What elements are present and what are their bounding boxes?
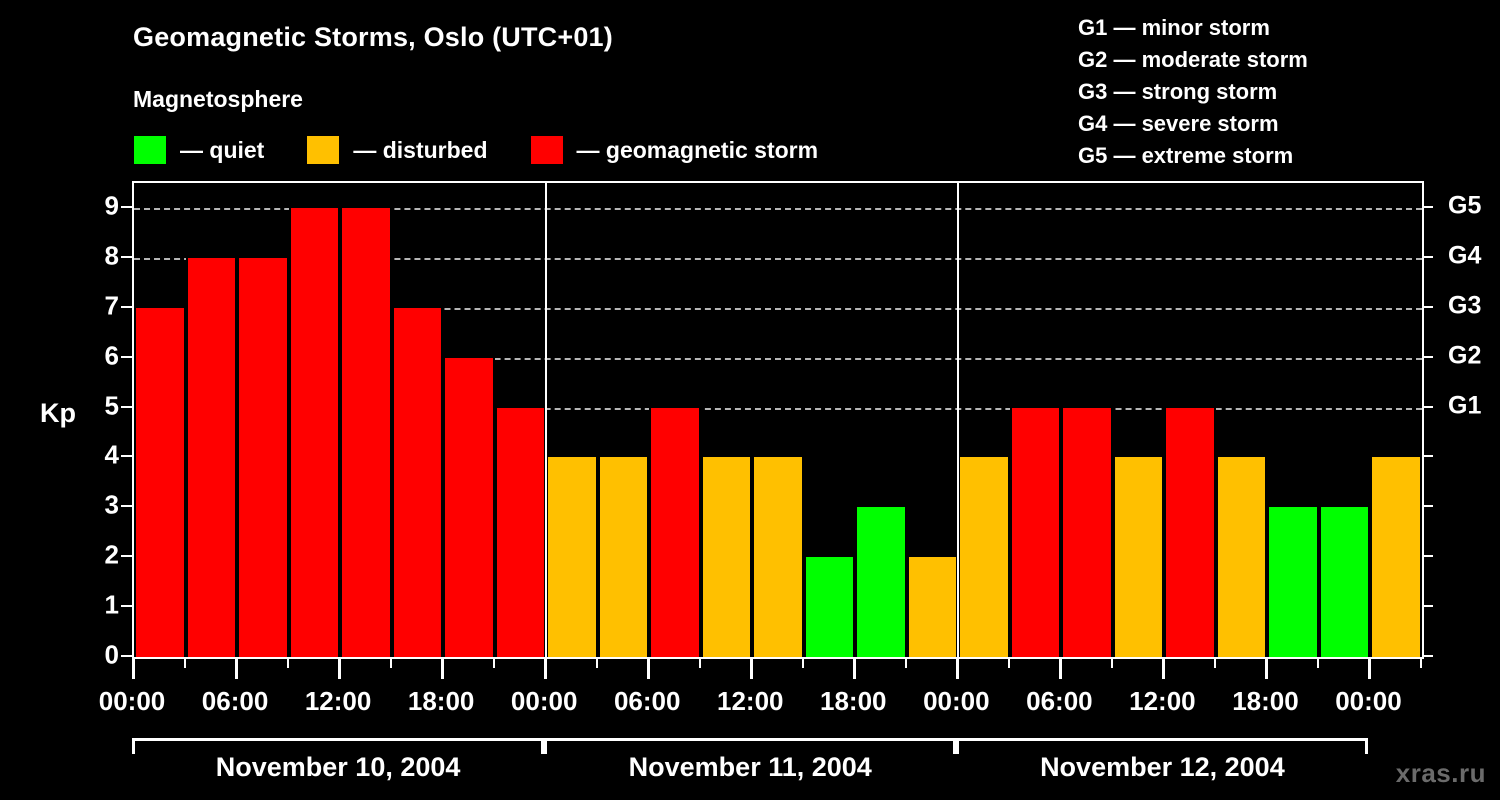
g-scale-line-2: G2 — moderate storm: [1078, 44, 1308, 76]
day-label-1: November 10, 2004: [216, 752, 461, 783]
x-tick-2: [235, 657, 238, 679]
right-minor-tick-4: [1422, 455, 1433, 457]
legend: — quiet— disturbed— geomagnetic storm: [133, 134, 860, 166]
legend-item-0: — quiet: [133, 135, 264, 165]
x-tick-23: [1317, 657, 1319, 668]
g-scale-line-5: G5 — extreme storm: [1078, 140, 1308, 172]
bar-4: [340, 208, 392, 657]
bar-8: [546, 457, 598, 657]
y-tick-label-4: 4: [105, 440, 119, 471]
watermark: xras.ru: [1396, 758, 1486, 789]
x-tick-19: [1111, 657, 1113, 668]
bar-2: [237, 258, 289, 657]
y-axis-label: Kp: [40, 398, 76, 429]
bar-21: [1216, 457, 1268, 657]
x-tick-25: [1420, 657, 1422, 668]
g-scale-line-3: G3 — strong storm: [1078, 76, 1308, 108]
x-tick-label-8: 00:00: [923, 686, 990, 717]
x-tick-16: [956, 657, 959, 679]
x-tick-13: [802, 657, 804, 668]
g-tick-label-G4: G4: [1448, 241, 1481, 270]
chart-plot-inner: [134, 183, 1422, 657]
y-tick-label-6: 6: [105, 340, 119, 371]
g-tick-mark-G4: [1422, 256, 1433, 258]
x-tick-8: [544, 657, 547, 679]
g-tick-mark-G2: [1422, 356, 1433, 358]
bar-3: [289, 208, 341, 657]
y-tick-label-0: 0: [105, 640, 119, 671]
y-tick-mark-1: [121, 605, 132, 607]
x-tick-9: [596, 657, 598, 668]
x-tick-label-0: 00:00: [99, 686, 166, 717]
y-tick-mark-4: [121, 455, 132, 457]
bar-23: [1319, 507, 1371, 657]
y-tick-label-9: 9: [105, 190, 119, 221]
x-tick-24: [1368, 657, 1371, 679]
day-separator-1: [545, 183, 547, 657]
x-tick-3: [287, 657, 289, 668]
bar-12: [752, 457, 804, 657]
x-tick-0: [132, 657, 135, 679]
y-tick-mark-0: [121, 655, 132, 657]
x-tick-14: [853, 657, 856, 679]
bar-18: [1061, 408, 1113, 657]
x-tick-label-2: 12:00: [305, 686, 372, 717]
legend-item-1: — disturbed: [306, 135, 487, 165]
legend-item-2: — geomagnetic storm: [530, 135, 819, 165]
day-label-3: November 12, 2004: [1040, 752, 1285, 783]
y-tick-label-8: 8: [105, 240, 119, 271]
right-minor-tick-2: [1422, 555, 1433, 557]
y-tick-mark-9: [121, 206, 132, 208]
bar-13: [804, 557, 856, 657]
green-square-icon: [133, 135, 167, 165]
x-tick-15: [905, 657, 907, 668]
y-tick-label-1: 1: [105, 590, 119, 621]
y-tick-label-5: 5: [105, 390, 119, 421]
legend-item-label: — disturbed: [353, 137, 487, 164]
x-tick-label-6: 12:00: [717, 686, 784, 717]
x-tick-label-5: 06:00: [614, 686, 681, 717]
bar-0: [134, 308, 186, 657]
chart-plot-area: [132, 181, 1424, 659]
bar-15: [907, 557, 959, 657]
y-tick-mark-8: [121, 256, 132, 258]
y-tick-mark-2: [121, 555, 132, 557]
legend-heading: Magnetosphere: [133, 86, 303, 113]
y-tick-label-2: 2: [105, 540, 119, 571]
x-tick-label-4: 00:00: [511, 686, 578, 717]
x-tick-label-9: 06:00: [1026, 686, 1093, 717]
x-tick-17: [1008, 657, 1010, 668]
x-tick-21: [1214, 657, 1216, 668]
g-tick-mark-G3: [1422, 306, 1433, 308]
bar-17: [1010, 408, 1062, 657]
g-scale-line-4: G4 — severe storm: [1078, 108, 1308, 140]
x-tick-label-12: 00:00: [1335, 686, 1402, 717]
x-tick-18: [1059, 657, 1062, 679]
day-separator-2: [957, 183, 959, 657]
y-tick-label-7: 7: [105, 290, 119, 321]
x-tick-label-3: 18:00: [408, 686, 475, 717]
bar-11: [701, 457, 753, 657]
g-tick-label-G2: G2: [1448, 341, 1481, 370]
right-minor-tick-1: [1422, 605, 1433, 607]
bar-16: [958, 457, 1010, 657]
g-tick-label-G3: G3: [1448, 291, 1481, 320]
g-tick-mark-G5: [1422, 206, 1433, 208]
day-label-2: November 11, 2004: [629, 752, 872, 783]
x-tick-22: [1265, 657, 1268, 679]
x-tick-20: [1162, 657, 1165, 679]
x-tick-label-7: 18:00: [820, 686, 887, 717]
bar-10: [649, 408, 701, 657]
x-tick-label-10: 12:00: [1129, 686, 1196, 717]
x-tick-7: [493, 657, 495, 668]
y-tick-mark-6: [121, 356, 132, 358]
right-minor-tick-3: [1422, 505, 1433, 507]
page-title: Geomagnetic Storms, Oslo (UTC+01): [133, 22, 613, 53]
bar-20: [1164, 408, 1216, 657]
y-tick-mark-7: [121, 306, 132, 308]
x-tick-label-1: 06:00: [202, 686, 269, 717]
y-tick-mark-5: [121, 406, 132, 408]
bar-22: [1267, 507, 1319, 657]
x-tick-1: [184, 657, 186, 668]
bar-7: [495, 408, 547, 657]
bar-5: [392, 308, 444, 657]
red-square-icon: [530, 135, 564, 165]
g-tick-mark-G1: [1422, 406, 1433, 408]
bar-14: [855, 507, 907, 657]
bar-24: [1370, 457, 1422, 657]
bar-1: [186, 258, 238, 657]
legend-item-label: — quiet: [180, 137, 264, 164]
g-scale-line-1: G1 — minor storm: [1078, 12, 1308, 44]
y-tick-mark-3: [121, 505, 132, 507]
right-minor-tick-0: [1422, 655, 1433, 657]
x-tick-5: [390, 657, 392, 668]
bar-19: [1113, 457, 1165, 657]
g-scale-legend: G1 — minor stormG2 — moderate stormG3 — …: [1078, 12, 1308, 172]
legend-item-label: — geomagnetic storm: [577, 137, 819, 164]
g-tick-label-G1: G1: [1448, 391, 1481, 420]
x-tick-4: [338, 657, 341, 679]
g-tick-label-G5: G5: [1448, 191, 1481, 220]
x-tick-10: [647, 657, 650, 679]
x-tick-6: [441, 657, 444, 679]
bar-6: [443, 358, 495, 657]
x-tick-label-11: 18:00: [1232, 686, 1299, 717]
bar-9: [598, 457, 650, 657]
x-tick-12: [750, 657, 753, 679]
amber-square-icon: [306, 135, 340, 165]
x-tick-11: [699, 657, 701, 668]
y-tick-label-3: 3: [105, 490, 119, 521]
